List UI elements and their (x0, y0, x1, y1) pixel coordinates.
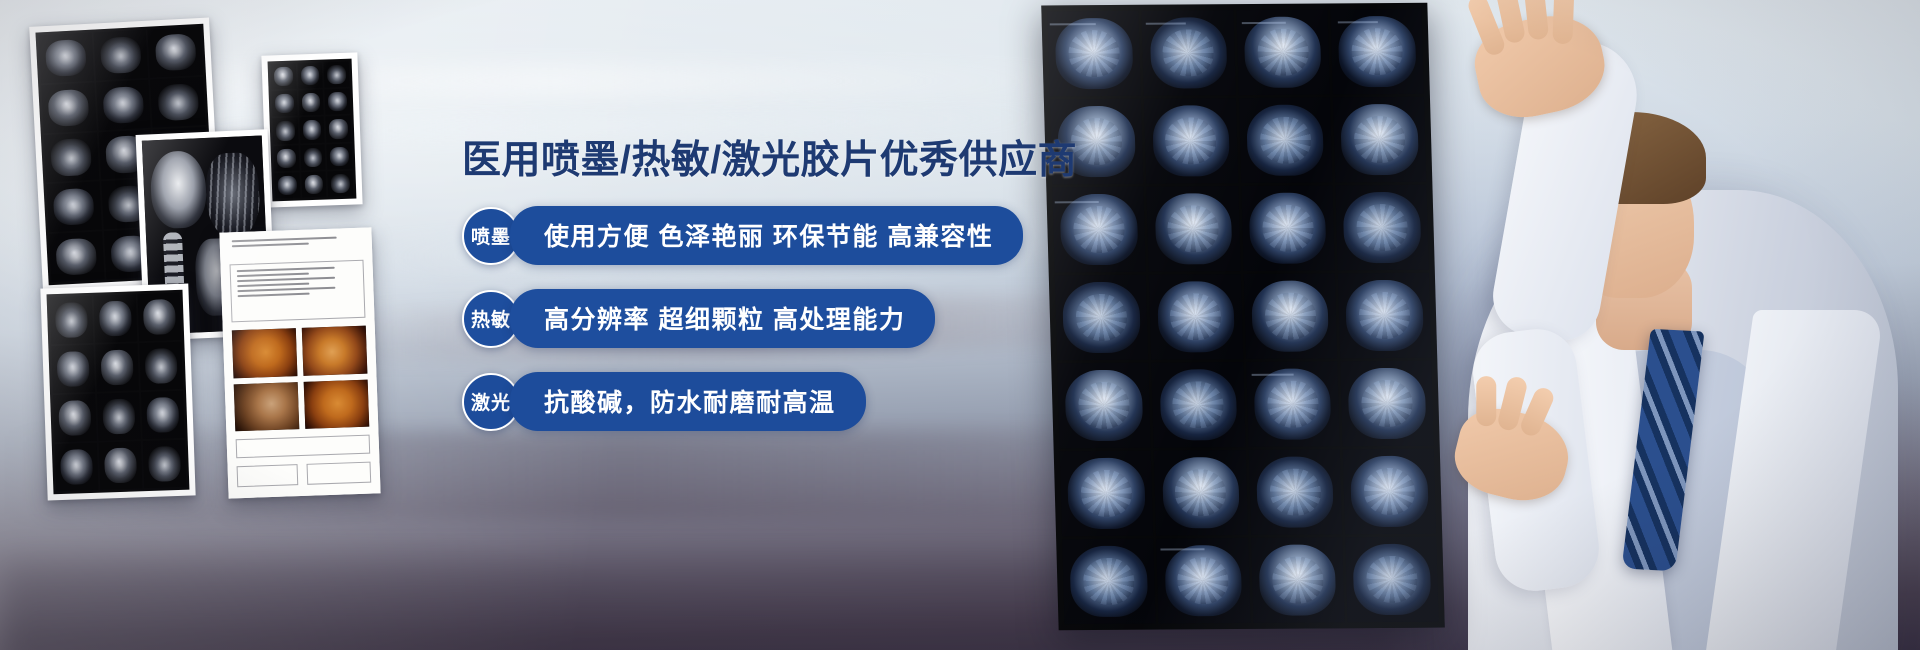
feature-row-laser: 激光 抗酸碱，防水耐磨耐高温 (462, 372, 1102, 431)
fundus-photo (304, 379, 369, 429)
page-title: 医用喷墨/热敏/激光胶片优秀供应商 (462, 140, 1102, 182)
film-sheet-brain-ct (261, 52, 362, 207)
film-sheet-brain-mri (40, 283, 195, 500)
fundus-photo (232, 329, 297, 379)
feature-row-inkjet: 喷墨 使用方便 色泽艳丽 环保节能 高兼容性 (462, 206, 1102, 265)
hero-banner: 医用喷墨/热敏/激光胶片优秀供应商 喷墨 使用方便 色泽艳丽 环保节能 高兼容性… (0, 0, 1920, 650)
film-sheet-report (219, 227, 380, 498)
hero-copy: 医用喷墨/热敏/激光胶片优秀供应商 喷墨 使用方便 色泽艳丽 环保节能 高兼容性… (462, 140, 1102, 431)
report-note-box (236, 435, 370, 458)
mri-slice-grid (1047, 9, 1438, 624)
report-header-lines (232, 236, 360, 254)
medical-film-stack (28, 8, 448, 518)
brain-ct-image (268, 59, 357, 202)
doctor-scene (1040, 0, 1920, 650)
report-data-box (230, 260, 366, 323)
report-sign-box (307, 462, 372, 485)
fundus-photo (234, 382, 299, 432)
feature-text-laser[interactable]: 抗酸碱，防水耐磨耐高温 (510, 372, 866, 431)
report-sign-box (237, 464, 299, 487)
brain-mri-image (47, 290, 190, 495)
feature-text-thermal[interactable]: 高分辨率 超细颗粒 高处理能力 (510, 289, 935, 348)
report-page (219, 227, 380, 498)
feature-row-thermal: 热敏 高分辨率 超细颗粒 高处理能力 (462, 289, 1102, 348)
feature-text-inkjet[interactable]: 使用方便 色泽艳丽 环保节能 高兼容性 (510, 206, 1023, 265)
fundus-photo (302, 326, 367, 376)
